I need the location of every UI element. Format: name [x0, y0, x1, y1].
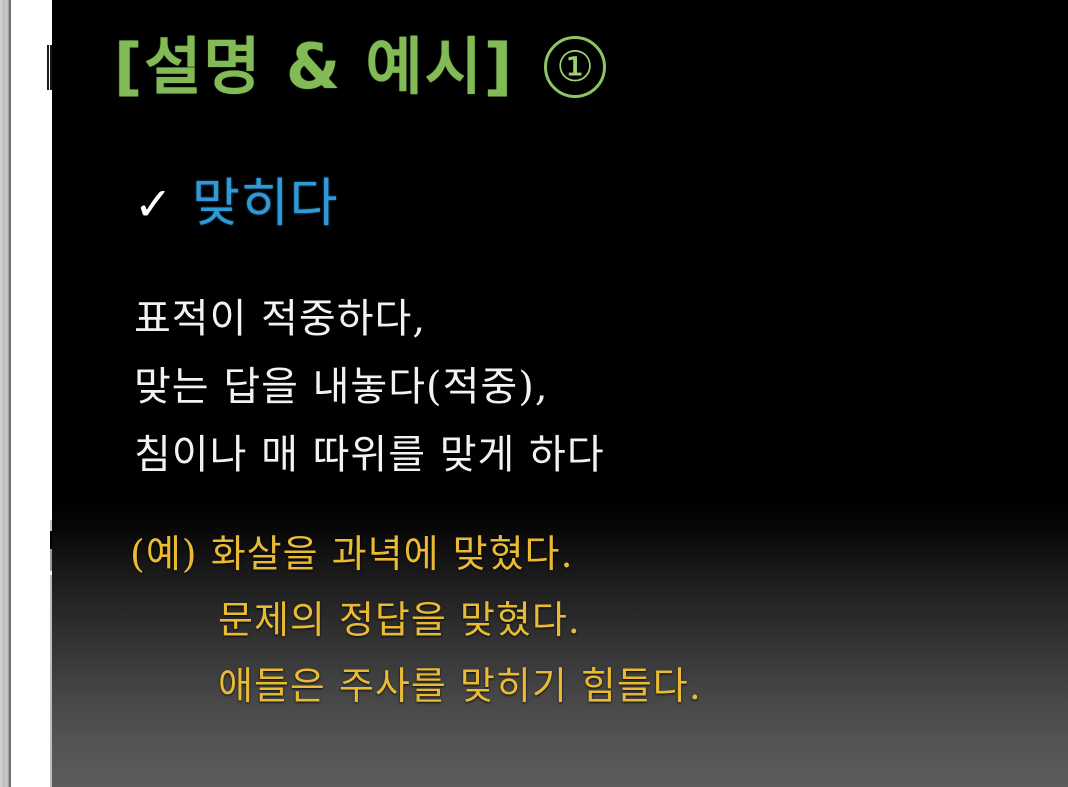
slide-title-text: [설명 & 예시] — [114, 36, 514, 98]
example-line: 애들은 주사를 맞히기 힘들다. — [130, 653, 702, 719]
example-line: (예) 화살을 과녁에 맞혔다. — [130, 521, 702, 587]
definition-line: 침이나 매 따위를 맞게 하다 — [134, 421, 605, 489]
slide-canvas[interactable]: [설명 & 예시] ① ✓ 맞히다 표적이 적중하다, 맞는 답을 내놓다(적중… — [52, 0, 1068, 787]
check-icon: ✓ — [134, 181, 192, 227]
window-left-edge — [0, 0, 10, 787]
example-line: 문제의 정답을 맞혔다. — [130, 587, 702, 653]
sub-heading: ✓ 맞히다 — [134, 178, 339, 230]
sub-heading-text: 맞히다 — [192, 178, 339, 230]
slide-title: [설명 & 예시] ① — [114, 36, 606, 98]
examples-block: (예) 화살을 과녁에 맞혔다. 문제의 정답을 맞혔다. 애들은 주사를 맞히… — [130, 521, 702, 719]
slide-number-badge: ① — [544, 36, 606, 98]
definition-line: 맞는 답을 내놓다(적중), — [134, 353, 605, 421]
definition-block: 표적이 적중하다, 맞는 답을 내놓다(적중), 침이나 매 따위를 맞게 하다 — [134, 285, 605, 489]
presentation-window: [설명 & 예시] ① ✓ 맞히다 표적이 적중하다, 맞는 답을 내놓다(적중… — [0, 0, 1068, 787]
definition-line: 표적이 적중하다, — [134, 285, 605, 353]
slide-thumbnail-pane[interactable] — [10, 0, 52, 787]
